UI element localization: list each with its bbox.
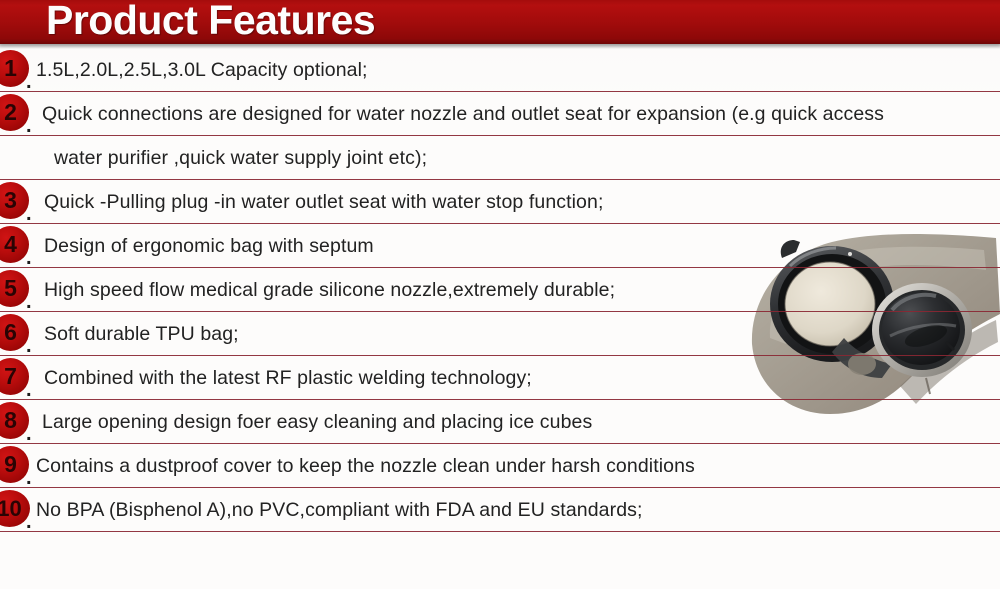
bullet-number-7: 7 xyxy=(0,358,29,395)
row-rule xyxy=(0,135,1000,136)
bullet-dot: . xyxy=(26,296,32,308)
bullet-number-6: 6 xyxy=(0,314,29,351)
list-item: 1 . 1.5L,2.0L,2.5L,3.0L Capacity optiona… xyxy=(0,48,1000,92)
bullet-dot: . xyxy=(26,252,32,264)
header-bar: Product Features xyxy=(0,0,1000,44)
feature-text: 1.5L,2.0L,2.5L,3.0L Capacity optional; xyxy=(36,55,368,85)
product-features-slide: Product Features 1 . 1.5L,2.0L,2.5L,3.0L… xyxy=(0,0,1000,589)
list-item: 2 . Quick connections are designed for w… xyxy=(0,92,1000,180)
bullet-number-1: 1 xyxy=(0,50,29,87)
bullet-number-8: 8 xyxy=(0,402,29,439)
list-item: 4 . Design of ergonomic bag with septum xyxy=(0,224,1000,268)
feature-list: 1 . 1.5L,2.0L,2.5L,3.0L Capacity optiona… xyxy=(0,48,1000,532)
bullet-dot: . xyxy=(26,516,32,528)
list-item: 6 . Soft durable TPU bag; xyxy=(0,312,1000,356)
bullet-dot: . xyxy=(26,428,32,440)
feature-text: Large opening design foer easy cleaning … xyxy=(42,407,592,437)
bullet-number-5: 5 xyxy=(0,270,29,307)
feature-text: Combined with the latest RF plastic weld… xyxy=(44,363,532,393)
bullet-dot: . xyxy=(26,208,32,220)
feature-text: Quick -Pulling plug -in water outlet sea… xyxy=(44,187,603,217)
list-item: 8 . Large opening design foer easy clean… xyxy=(0,400,1000,444)
header-shadow xyxy=(0,44,1000,49)
bullet-number-9: 9 xyxy=(0,446,29,483)
bullet-dot: . xyxy=(26,340,32,352)
bullet-number-3: 3 xyxy=(0,182,29,219)
list-item: 5 . High speed flow medical grade silico… xyxy=(0,268,1000,312)
list-item: 9 . Contains a dustproof cover to keep t… xyxy=(0,444,1000,488)
bullet-dot: . xyxy=(26,76,32,88)
list-item: 3 . Quick -Pulling plug -in water outlet… xyxy=(0,180,1000,224)
bullet-dot: . xyxy=(26,472,32,484)
feature-text: High speed flow medical grade silicone n… xyxy=(44,275,615,305)
page-title: Product Features xyxy=(46,0,375,44)
row-rule xyxy=(0,531,1000,532)
bullet-number-2: 2 xyxy=(0,94,29,131)
list-item: 7 . Combined with the latest RF plastic … xyxy=(0,356,1000,400)
list-item: 10 . No BPA (Bisphenol A),no PVC,complia… xyxy=(0,488,1000,532)
feature-text: Quick connections are designed for water… xyxy=(42,99,884,129)
feature-text: Soft durable TPU bag; xyxy=(44,319,239,349)
bullet-dot: . xyxy=(26,384,32,396)
bullet-dot: . xyxy=(26,120,32,132)
feature-text: Design of ergonomic bag with septum xyxy=(44,231,374,261)
feature-text: Contains a dustproof cover to keep the n… xyxy=(36,451,695,481)
bullet-number-4: 4 xyxy=(0,226,29,263)
feature-text-continuation: water purifier ,quick water supply joint… xyxy=(54,143,427,173)
feature-text: No BPA (Bisphenol A),no PVC,compliant wi… xyxy=(36,495,643,525)
